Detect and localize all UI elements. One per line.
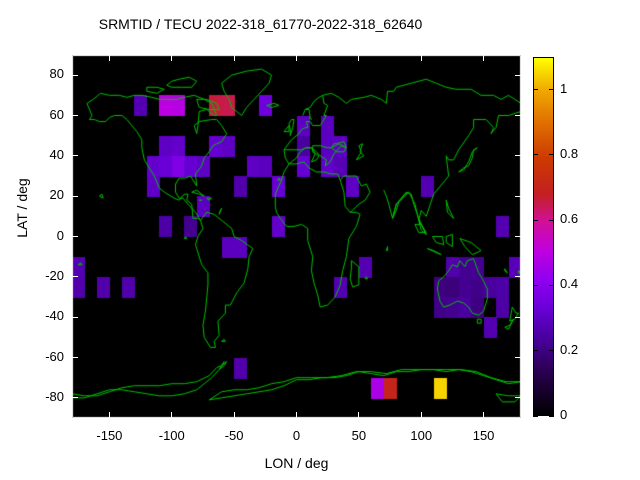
colorbar-tick-label: 0.2 bbox=[560, 342, 578, 357]
x-axis-tick-mark bbox=[171, 412, 172, 418]
colorbar-tick-mark bbox=[533, 220, 538, 221]
y-axis-tick-mark bbox=[515, 236, 521, 237]
y-axis-tick-label: 80 bbox=[4, 66, 64, 81]
colorbar-tick-mark bbox=[549, 154, 554, 155]
colorbar-tick-mark bbox=[533, 285, 538, 286]
colorbar-tick-mark bbox=[549, 89, 554, 90]
x-axis-tick-label: -50 bbox=[204, 428, 264, 443]
y-axis-tick-label: 0 bbox=[4, 228, 64, 243]
y-axis-tick-mark bbox=[515, 357, 521, 358]
heatmap-plot-area bbox=[72, 55, 521, 418]
x-axis-tick-label: 50 bbox=[329, 428, 389, 443]
x-axis-tick-mark bbox=[358, 55, 359, 61]
x-axis-tick-mark bbox=[483, 412, 484, 418]
colorbar-gradient bbox=[533, 57, 554, 416]
colorbar-tick-mark bbox=[533, 416, 538, 417]
colorbar-tick-label: 0 bbox=[560, 407, 567, 422]
x-axis-tick-label: -150 bbox=[79, 428, 139, 443]
y-axis-tick-label: 60 bbox=[4, 107, 64, 122]
x-axis-tick-mark bbox=[109, 55, 110, 61]
x-axis-tick-mark bbox=[171, 55, 172, 61]
x-axis-tick-mark bbox=[234, 412, 235, 418]
x-axis-tick-mark bbox=[483, 55, 484, 61]
y-axis-tick-mark bbox=[515, 397, 521, 398]
world-map-heatmap-canvas bbox=[72, 55, 521, 418]
x-axis-tick-mark bbox=[421, 412, 422, 418]
y-axis-tick-mark bbox=[515, 115, 521, 116]
x-axis-tick-mark bbox=[358, 412, 359, 418]
x-axis-title: LON / deg bbox=[72, 455, 521, 471]
y-axis-tick-mark bbox=[515, 276, 521, 277]
colorbar-tick-label: 0.4 bbox=[560, 276, 578, 291]
page-title: SRMTID / TECU 2022-318_61770-2022-318_62… bbox=[0, 16, 521, 32]
x-axis-tick-mark bbox=[296, 412, 297, 418]
y-axis-tick-label: -80 bbox=[4, 389, 64, 404]
y-axis-tick-mark bbox=[515, 196, 521, 197]
x-axis-tick-label: 150 bbox=[454, 428, 514, 443]
x-axis-tick-mark bbox=[234, 55, 235, 61]
colorbar-tick-label: 1 bbox=[560, 81, 567, 96]
colorbar-tick-mark bbox=[549, 350, 554, 351]
y-axis-title: LAT / deg bbox=[14, 148, 30, 268]
colorbar-tick-label: 0.6 bbox=[560, 211, 578, 226]
colorbar-tick-mark bbox=[533, 350, 538, 351]
y-axis-tick-label: -60 bbox=[4, 349, 64, 364]
y-axis-tick-label: 20 bbox=[4, 187, 64, 202]
x-axis-tick-mark bbox=[296, 55, 297, 61]
chart-root: SRMTID / TECU 2022-318_61770-2022-318_62… bbox=[0, 0, 640, 480]
colorbar-tick-mark bbox=[549, 416, 554, 417]
y-axis-tick-mark bbox=[72, 155, 78, 156]
x-axis-tick-label: -100 bbox=[142, 428, 202, 443]
x-axis-tick-mark bbox=[109, 412, 110, 418]
y-axis-tick-mark bbox=[72, 397, 78, 398]
y-axis-tick-mark bbox=[515, 155, 521, 156]
colorbar-tick-label: 0.8 bbox=[560, 146, 578, 161]
y-axis-tick-label: -40 bbox=[4, 308, 64, 323]
colorbar-tick-mark bbox=[533, 154, 538, 155]
y-axis-tick-mark bbox=[72, 236, 78, 237]
y-axis-tick-label: 40 bbox=[4, 147, 64, 162]
colorbar-tick-mark bbox=[549, 220, 554, 221]
y-axis-tick-mark bbox=[72, 115, 78, 116]
x-axis-tick-label: 100 bbox=[391, 428, 451, 443]
colorbar-tick-mark bbox=[549, 285, 554, 286]
y-axis-tick-mark bbox=[515, 317, 521, 318]
y-axis-tick-mark bbox=[72, 317, 78, 318]
x-axis-tick-mark bbox=[421, 55, 422, 61]
colorbar-tick-mark bbox=[533, 89, 538, 90]
y-axis-tick-mark bbox=[72, 357, 78, 358]
colorbar: 00.20.40.60.81 bbox=[533, 57, 554, 416]
y-axis-tick-mark bbox=[515, 75, 521, 76]
y-axis-tick-label: -20 bbox=[4, 268, 64, 283]
y-axis-tick-mark bbox=[72, 276, 78, 277]
y-axis-tick-mark bbox=[72, 75, 78, 76]
y-axis-tick-mark bbox=[72, 196, 78, 197]
x-axis-tick-label: 0 bbox=[267, 428, 327, 443]
